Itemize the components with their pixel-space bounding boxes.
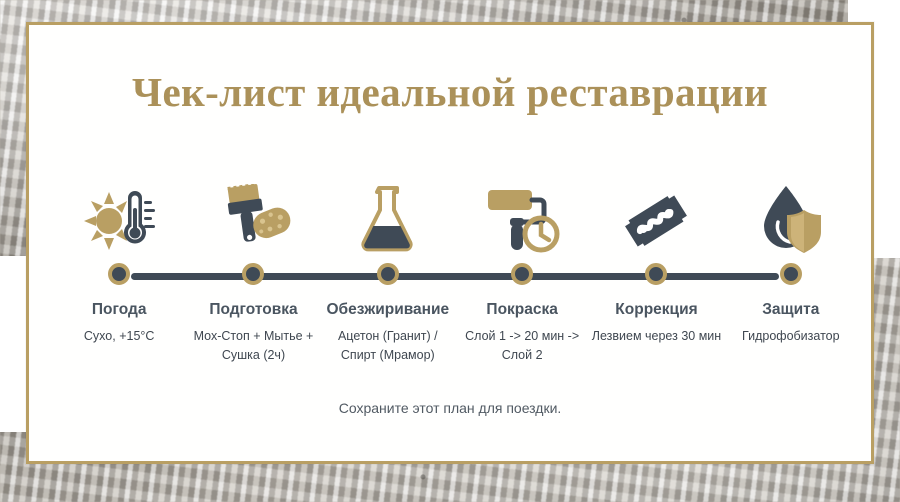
- timeline-dot: [242, 263, 264, 285]
- timeline-dot: [377, 263, 399, 285]
- timeline-step-painting[interactable]: Покраска Слой 1 -> 20 мин -> Слой 2: [455, 170, 589, 366]
- timeline-dot: [108, 263, 130, 285]
- checklist-card: Чек-лист идеальной реставрации: [26, 22, 874, 464]
- brush-sponge-icon: [214, 170, 292, 254]
- timeline-dot: [780, 263, 802, 285]
- step-description: Сухо, +15°C: [84, 327, 155, 346]
- razor-blade-icon: [621, 170, 691, 254]
- step-title: Обезжиривание: [326, 301, 449, 319]
- step-title: Покраска: [486, 301, 557, 319]
- step-description: Мох-Стоп + Мытье + Сушка (2ч): [188, 327, 318, 366]
- timeline-step-protection[interactable]: Защита Гидрофобизатор: [724, 170, 858, 366]
- step-description: Гидрофобизатор: [742, 327, 840, 346]
- paint-roller-clock-icon: [484, 170, 560, 254]
- timeline-step-degreasing[interactable]: Обезжиривание Ацетон (Гранит) / Спирт (М…: [321, 170, 455, 366]
- slide-canvas: Чек-лист идеальной реставрации: [0, 0, 900, 502]
- page-title: Чек-лист идеальной реставрации: [26, 68, 874, 116]
- step-title: Подготовка: [209, 301, 297, 319]
- footer-note: Сохраните этот план для поездки.: [26, 400, 874, 416]
- timeline-dot: [645, 263, 667, 285]
- timeline-step-correction[interactable]: Коррекция Лезвием через 30 мин: [589, 170, 723, 366]
- step-description: Слой 1 -> 20 мин -> Слой 2: [457, 327, 587, 366]
- timeline-dot: [511, 263, 533, 285]
- step-description: Ацетон (Гранит) / Спирт (Мрамор): [323, 327, 453, 366]
- timeline-step-weather[interactable]: Погода Сухо, +15°C: [52, 170, 186, 366]
- timeline: Погода Сухо, +15°C: [26, 170, 874, 330]
- sun-thermometer-icon: [83, 170, 155, 254]
- timeline-step-preparation[interactable]: Подготовка Мох-Стоп + Мытье + Сушка (2ч): [186, 170, 320, 366]
- step-title: Коррекция: [615, 301, 697, 319]
- timeline-steps: Погода Сухо, +15°C: [52, 170, 858, 366]
- step-description: Лезвием через 30 мин: [592, 327, 721, 346]
- step-title: Защита: [762, 301, 819, 319]
- flask-icon: [358, 170, 418, 254]
- step-title: Погода: [92, 301, 147, 319]
- droplet-shield-icon: [758, 170, 824, 254]
